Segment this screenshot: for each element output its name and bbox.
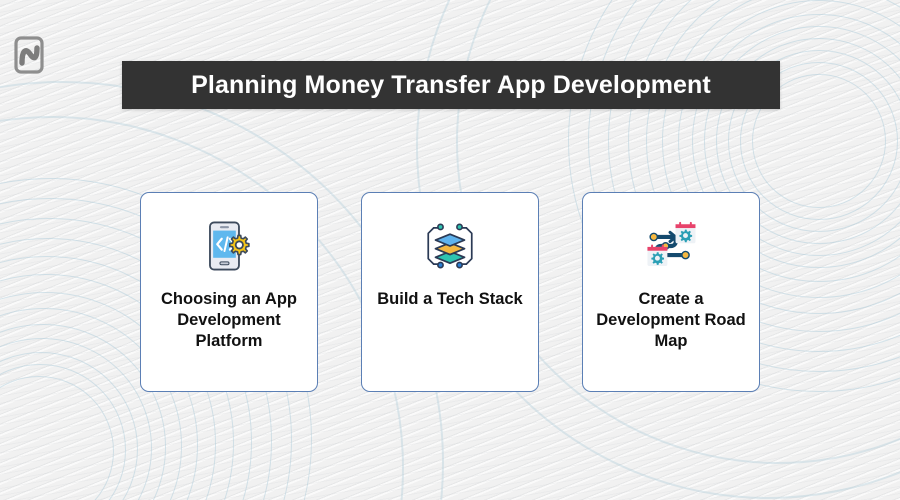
brand-logo[interactable] <box>14 36 44 74</box>
road-map-gears-icon <box>640 215 702 277</box>
smartphone-code-gear-icon <box>198 215 260 277</box>
gear-card-top <box>676 222 696 243</box>
page-title: Planning Money Transfer App Development <box>191 71 711 100</box>
card-create-a-development-road-map[interactable]: Create a Development Road Map <box>582 192 760 392</box>
card-label: Choosing an App Development Platform <box>141 289 317 352</box>
card-choosing-app-development-platform[interactable]: Choosing an App Development Platform <box>140 192 318 392</box>
card-row: Choosing an App Development Platform <box>140 192 760 394</box>
page-title-banner: Planning Money Transfer App Development <box>122 61 780 109</box>
layered-stack-tech-icon <box>419 215 481 277</box>
card-label: Build a Tech Stack <box>367 289 533 310</box>
infographic-canvas: Planning Money Transfer App Development <box>0 0 900 500</box>
card-build-a-tech-stack[interactable]: Build a Tech Stack <box>361 192 539 392</box>
card-label: Create a Development Road Map <box>583 289 759 352</box>
gear-card-bottom <box>647 245 667 266</box>
